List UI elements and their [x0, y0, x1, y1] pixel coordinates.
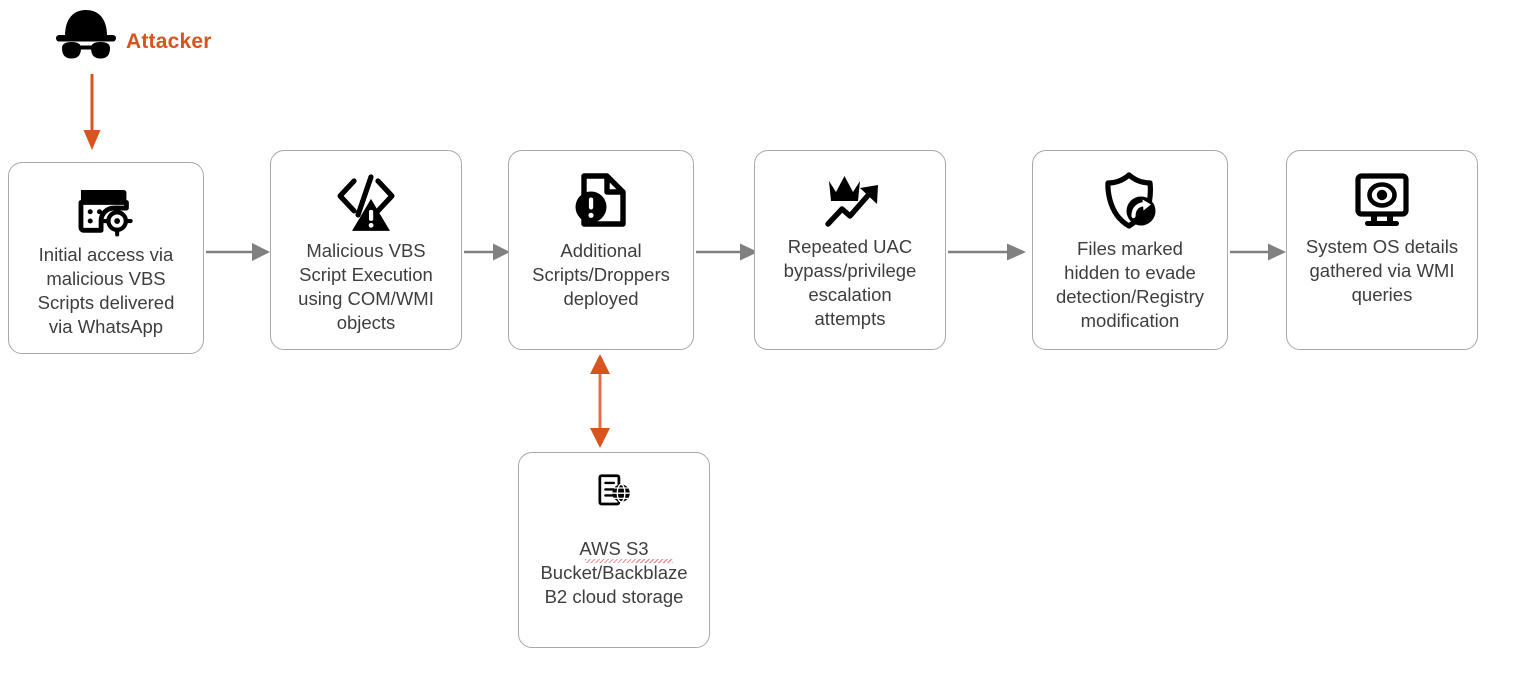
initial-access-to-vbs-execution-arrow — [206, 238, 272, 266]
defense-evasion-to-discovery-arrow — [1230, 238, 1288, 266]
node-defense-evasion-label: Files marked hidden to evade detection/R… — [1048, 237, 1212, 347]
node-uac-bypass-label: Repeated UAC bypass/privilege escalation… — [776, 235, 925, 345]
shield-redirect-arrow-icon — [1098, 171, 1162, 231]
incognito-spy-icon — [52, 8, 120, 70]
server-globe-icon — [580, 473, 648, 507]
document-alert-icon — [570, 171, 632, 233]
cloud-storage-text: AWS S3 Bucket/Backblaze B2 cloud storage — [540, 538, 687, 607]
node-uac-bypass[interactable]: Repeated UAC bypass/privilege escalation… — [754, 150, 946, 350]
node-defense-evasion[interactable]: Files marked hidden to evade detection/R… — [1032, 150, 1228, 350]
node-discovery-label: System OS details gathered via WMI queri… — [1298, 235, 1466, 321]
node-initial-access[interactable]: Initial access via malicious VBS Scripts… — [8, 162, 204, 354]
crown-trend-arrow-icon — [816, 171, 884, 229]
node-droppers[interactable]: Additional Scripts/Droppers deployed — [508, 150, 694, 350]
code-warning-icon — [333, 171, 399, 233]
diagram-canvas: Attacker Initial access via malicious VB… — [0, 0, 1536, 674]
uac-bypass-to-defense-evasion-arrow — [948, 238, 1028, 266]
node-vbs-execution[interactable]: Malicious VBS Script Execution using COM… — [270, 150, 462, 350]
node-cloud-storage[interactable]: AWS S3 Bucket/Backblaze B2 cloud storage — [518, 452, 710, 648]
node-cloud-storage-label: AWS S3 Bucket/Backblaze B2 cloud storage — [532, 513, 695, 647]
monitor-eye-icon — [1350, 171, 1414, 229]
vbs-execution-to-droppers-arrow — [464, 238, 512, 266]
node-droppers-label: Additional Scripts/Droppers deployed — [524, 239, 678, 325]
node-initial-access-label: Initial access via malicious VBS Scripts… — [30, 243, 183, 353]
node-vbs-execution-label: Malicious VBS Script Execution using COM… — [290, 239, 442, 349]
window-target-icon — [74, 183, 138, 237]
attacker-label: Attacker — [126, 30, 212, 54]
droppers-to-uac-bypass-arrow — [696, 238, 760, 266]
droppers-to-cloud-storage-arrow — [582, 352, 618, 450]
node-discovery[interactable]: System OS details gathered via WMI queri… — [1286, 150, 1478, 350]
attacker-to-initial-access-arrow — [74, 74, 110, 154]
